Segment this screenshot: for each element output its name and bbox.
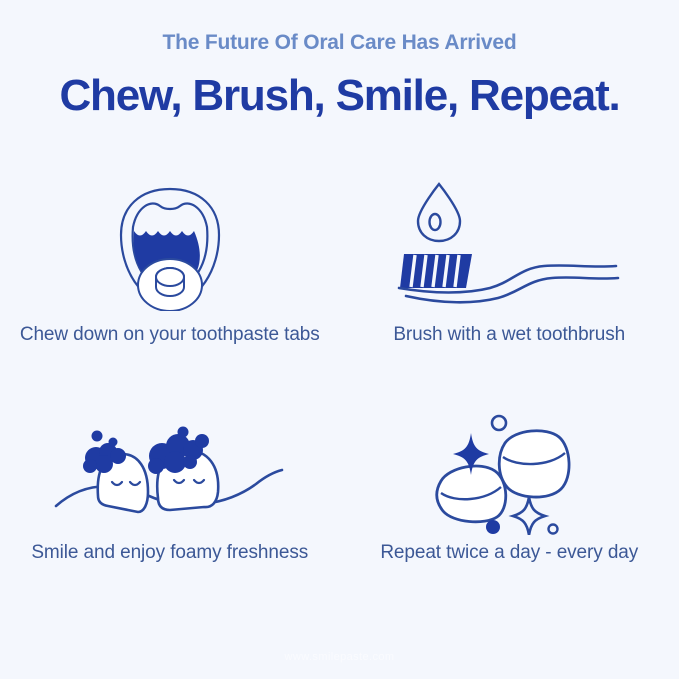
step-brush-caption: Brush with a wet toothbrush <box>387 322 631 348</box>
header: The Future Of Oral Care Has Arrived Chew… <box>0 0 679 122</box>
step-smile: Smile and enjoy foamy freshness <box>0 400 340 630</box>
tablet-upper <box>499 431 569 497</box>
dot-outline-large <box>492 416 506 430</box>
dot-outline-small <box>549 525 558 534</box>
eyebrow-text: The Future Of Oral Care Has Arrived <box>0 30 679 55</box>
step-chew-art <box>110 170 230 322</box>
step-repeat-art <box>429 400 589 540</box>
toothbrush-bristles <box>400 254 472 288</box>
tablet-on-tongue <box>156 268 184 296</box>
step-smile-caption: Smile and enjoy foamy freshness <box>25 540 314 566</box>
dot-filled <box>486 520 500 534</box>
step-brush: Brush with a wet toothbrush <box>340 170 679 400</box>
open-mouth-with-tablet-icon <box>110 181 230 311</box>
toothbrush-with-water-drop-icon <box>394 176 624 316</box>
tablet-lower <box>437 466 506 522</box>
watermark-text: www.smilepaste.com <box>0 651 679 663</box>
step-chew: Chew down on your toothpaste tabs <box>0 170 340 400</box>
smiling-teeth-with-foam-icon <box>50 410 290 530</box>
step-chew-caption: Chew down on your toothpaste tabs <box>14 322 326 348</box>
oral-care-infographic: The Future Of Oral Care Has Arrived Chew… <box>0 0 679 679</box>
step-smile-art <box>50 400 290 540</box>
step-repeat: Repeat twice a day - every day <box>340 400 679 630</box>
sparkle-outline-icon <box>513 497 545 535</box>
steps-grid: Chew down on your toothpaste tabs <box>0 170 679 630</box>
step-brush-art <box>394 170 624 322</box>
page-title: Chew, Brush, Smile, Repeat. <box>0 71 679 122</box>
toothpaste-tablets-with-sparkles-icon <box>429 405 589 535</box>
water-drop-icon <box>418 184 460 241</box>
step-repeat-caption: Repeat twice a day - every day <box>374 540 644 566</box>
